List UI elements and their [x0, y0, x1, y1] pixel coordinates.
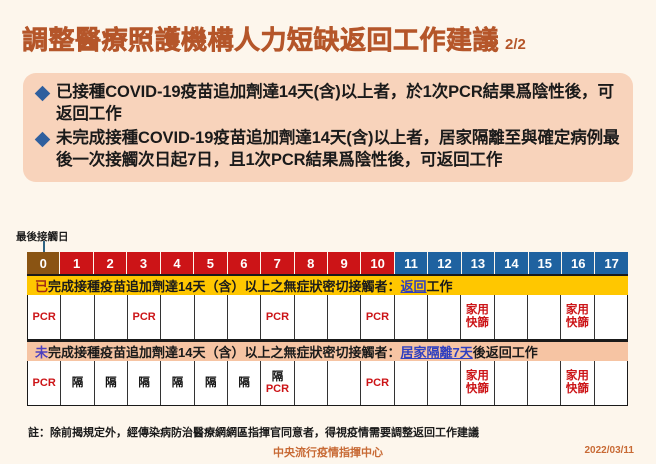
banner-body: 完成接種疫苗追加劑達14天（含）以上之無症狀密切接觸者：: [48, 342, 400, 361]
schedule-cell-day-10: PCR: [361, 361, 394, 405]
schedule-cell-day-7: 隔 PCR: [261, 361, 294, 405]
schedule-cell-day-17: [595, 361, 627, 405]
schedule-cell-day-2: 隔: [95, 361, 128, 405]
schedule-cell-day-12: [428, 295, 461, 339]
isolation-marker: 隔: [105, 377, 117, 390]
pcr-test-marker: PCR: [33, 377, 56, 389]
banner-tail: 工作: [427, 276, 453, 295]
schedule-cell-day-4: 隔: [161, 361, 194, 405]
unvaccinated-banner: 未完成接種疫苗追加劑達14天（含）以上之無症狀密切接觸者：居家隔離7天後返回工作: [27, 340, 628, 361]
diamond-bullet-icon: [35, 86, 51, 102]
schedule-cell-day-11: [395, 295, 428, 339]
schedule-cell-day-16: 家用快篩: [561, 361, 594, 405]
timeline-header-row: 0 1 2 3 4 5 6 7 8 9 10 11 12 13 14 15 16…: [27, 252, 628, 274]
vaccinated-schedule-row: PCR PCR PCR PCR 家用快篩 家用快篩: [27, 295, 628, 340]
schedule-cell-day-5: 隔: [195, 361, 228, 405]
isolation-marker: 隔: [72, 377, 84, 390]
pcr-test-marker: PCR: [366, 377, 389, 389]
schedule-cell-day-16: 家用快篩: [561, 295, 594, 339]
diamond-bullet-icon: [35, 132, 51, 148]
day-cell-14: 14: [495, 252, 528, 274]
timeline-table: 0 1 2 3 4 5 6 7 8 9 10 11 12 13 14 15 16…: [27, 252, 628, 406]
title-text: 調整醫療照護機構人力短缺返回工作建議: [22, 20, 499, 57]
footnote: 註：除前揭規定外，經傳染病防治醫療網網區指揮官同意者，得視疫情需要調整返回工作建…: [28, 424, 479, 440]
isolation-marker: 隔: [238, 377, 250, 390]
schedule-cell-day-13: 家用快篩: [461, 295, 494, 339]
schedule-cell-day-15: [528, 295, 561, 339]
isolation-marker: 隔: [205, 377, 217, 390]
schedule-cell-day-0: PCR: [28, 295, 61, 339]
day-cell-10: 10: [361, 252, 394, 274]
bullet-item: 已接種COVID-19疫苗追加劑達14天(含)以上者，於1次PCR結果爲陰性後，…: [35, 82, 621, 126]
schedule-cell-day-6: 隔: [228, 361, 261, 405]
day-cell-15: 15: [529, 252, 562, 274]
schedule-cell-day-15: [528, 361, 561, 405]
schedule-cell-day-7: PCR: [261, 295, 294, 339]
schedule-cell-day-1: 隔: [61, 361, 94, 405]
day-cell-16: 16: [562, 252, 595, 274]
schedule-cell-day-3: 隔: [128, 361, 161, 405]
bullet-item: 未完成接種COVID-19疫苗追加劑達14天(含)以上者，居家隔離至與確定病例最…: [35, 128, 621, 172]
last-contact-day-pointer-icon: [43, 241, 45, 252]
rapid-test-marker: 家用快篩: [466, 370, 489, 396]
bullet-text: 已接種COVID-19疫苗追加劑達14天(含)以上者，於1次PCR結果爲陰性後，…: [56, 82, 621, 126]
day-cell-3: 3: [127, 252, 160, 274]
day-cell-0: 0: [27, 252, 60, 274]
bullet-text: 未完成接種COVID-19疫苗追加劑達14天(含)以上者，居家隔離至與確定病例最…: [56, 128, 621, 172]
pcr-test-marker: PCR: [266, 311, 289, 323]
schedule-cell-day-17: [595, 295, 627, 339]
day-cell-12: 12: [428, 252, 461, 274]
isolation-marker: 隔: [172, 377, 184, 390]
day-cell-11: 11: [395, 252, 428, 274]
banner-lead: 未: [35, 342, 48, 361]
pcr-test-marker: PCR: [33, 311, 56, 323]
vaccinated-banner: 已完成接種疫苗追加劑達14天（含）以上之無症狀密切接觸者：返回工作: [27, 274, 628, 295]
day-cell-7: 7: [261, 252, 294, 274]
schedule-cell-day-8: [295, 295, 328, 339]
pcr-test-marker: PCR: [266, 383, 289, 395]
isolation-marker: 隔: [138, 377, 150, 390]
rapid-test-marker: 家用快篩: [566, 304, 589, 330]
day-cell-13: 13: [462, 252, 495, 274]
day-cell-2: 2: [94, 252, 127, 274]
schedule-cell-day-10: PCR: [361, 295, 394, 339]
schedule-cell-day-5: [195, 295, 228, 339]
schedule-cell-day-3: PCR: [128, 295, 161, 339]
day-cell-8: 8: [295, 252, 328, 274]
banner-link: 居家隔離7天: [400, 342, 472, 361]
rapid-test-marker: 家用快篩: [566, 370, 589, 396]
day-cell-17: 17: [595, 252, 627, 274]
unvaccinated-schedule-row: PCR 隔 隔 隔 隔 隔 隔 隔 PCR PCR 家用快篩 家用快篩: [27, 361, 628, 406]
day-cell-5: 5: [194, 252, 227, 274]
day-cell-6: 6: [228, 252, 261, 274]
schedule-cell-day-0: PCR: [28, 361, 61, 405]
pcr-test-marker: PCR: [133, 311, 156, 323]
schedule-cell-day-12: [428, 361, 461, 405]
day-cell-4: 4: [161, 252, 194, 274]
page-indicator: 2/2: [505, 36, 526, 53]
schedule-cell-day-13: 家用快篩: [461, 361, 494, 405]
pcr-test-marker: PCR: [366, 311, 389, 323]
schedule-cell-day-14: [495, 295, 528, 339]
organization-name: 中央流行疫情指揮中心: [0, 444, 656, 460]
schedule-cell-day-11: [395, 361, 428, 405]
schedule-cell-day-1: [61, 295, 94, 339]
page-title: 調整醫療照護機構人力短缺返回工作建議 2/2: [22, 20, 526, 57]
isolation-marker: 隔: [272, 371, 284, 384]
banner-tail: 後返回工作: [473, 342, 538, 361]
schedule-cell-day-9: [328, 361, 361, 405]
bullet-card: 已接種COVID-19疫苗追加劑達14天(含)以上者，於1次PCR結果爲陰性後，…: [23, 73, 633, 182]
schedule-cell-day-9: [328, 295, 361, 339]
schedule-cell-day-4: [161, 295, 194, 339]
schedule-cell-day-2: [95, 295, 128, 339]
schedule-cell-day-6: [228, 295, 261, 339]
banner-lead: 已: [35, 276, 48, 295]
publish-date: 2022/03/11: [585, 445, 635, 456]
banner-body: 完成接種疫苗追加劑達14天（含）以上之無症狀密切接觸者：: [48, 276, 400, 295]
banner-link: 返回: [400, 276, 426, 295]
rapid-test-marker: 家用快篩: [466, 304, 489, 330]
schedule-cell-day-14: [495, 361, 528, 405]
day-cell-9: 9: [328, 252, 361, 274]
day-cell-1: 1: [60, 252, 93, 274]
schedule-cell-day-8: [295, 361, 328, 405]
